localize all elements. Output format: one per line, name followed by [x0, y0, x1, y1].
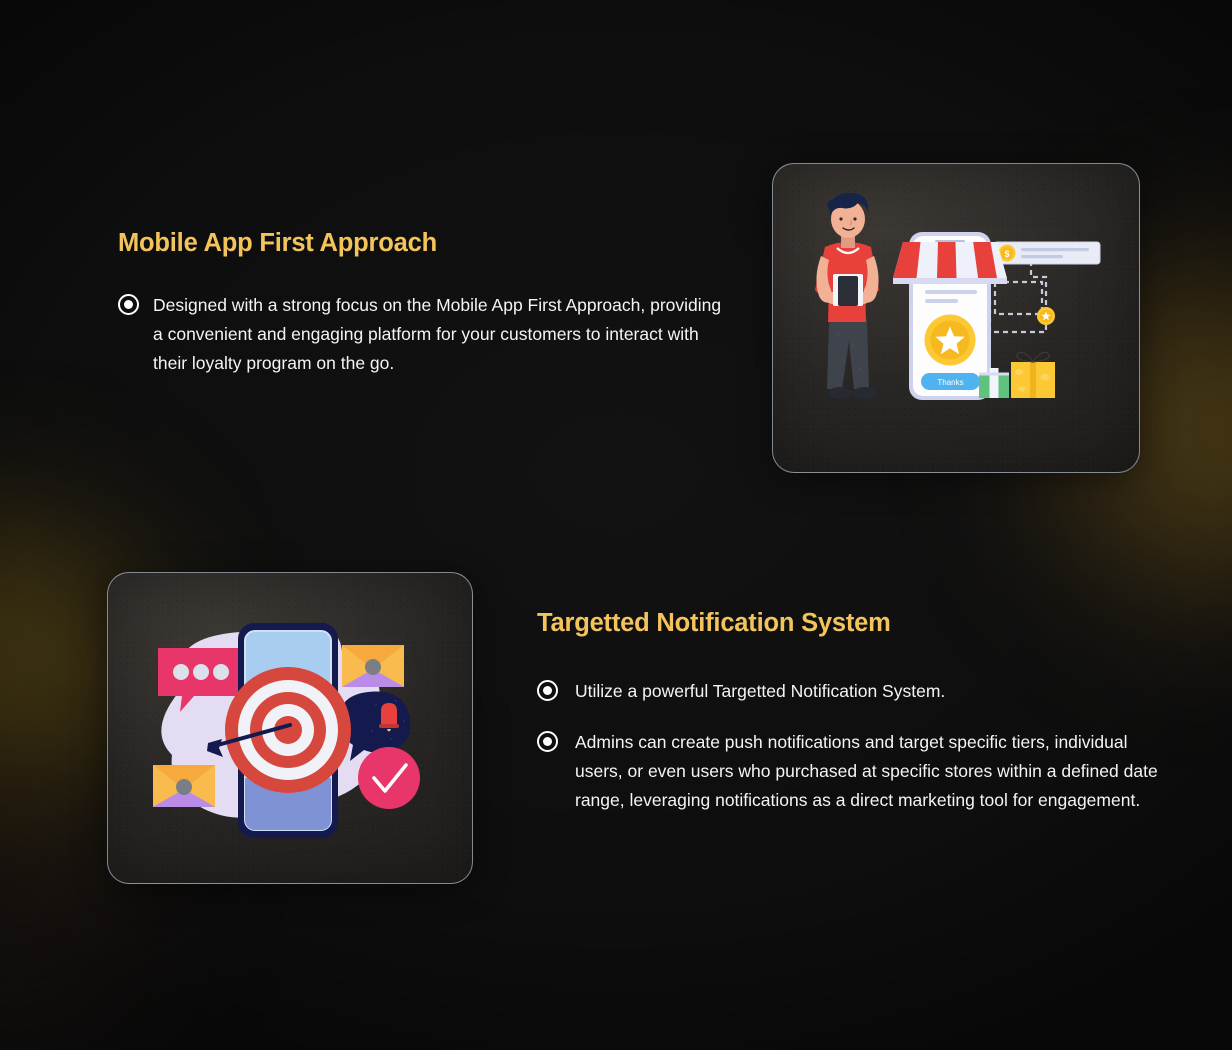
section-notification-text: Targetted Notification System Utilize a …: [537, 608, 1177, 815]
list-item: Admins can create push notifications and…: [537, 728, 1177, 815]
list-item: Utilize a powerful Targetted Notificatio…: [537, 677, 1177, 706]
bullet-text: Designed with a strong focus on the Mobi…: [153, 291, 728, 378]
mobile-store-loyalty-illustration: $: [773, 164, 1140, 473]
radio-bullet-icon: [537, 731, 558, 752]
list-item: Designed with a strong focus on the Mobi…: [118, 291, 728, 378]
radio-bullet-icon: [537, 680, 558, 701]
illustration-card-mobile-app: $: [772, 163, 1140, 473]
person-holding-tablet: [815, 193, 879, 399]
bullet-list-notification: Utilize a powerful Targetted Notificatio…: [537, 677, 1177, 815]
page-content: Mobile App First Approach Designed with …: [0, 0, 1232, 1050]
thanks-button: Thanks: [921, 373, 980, 390]
dartboard: [225, 667, 351, 793]
svg-text:$: $: [1004, 249, 1009, 259]
target-notification-illustration: [108, 573, 473, 884]
star-coin-large: [925, 315, 976, 366]
awning-stripes: [893, 242, 997, 278]
star-coin-small: [1037, 307, 1055, 325]
section-title-notification: Targetted Notification System: [537, 608, 1177, 639]
check-circle-icon: [358, 747, 420, 809]
bullet-text: Utilize a powerful Targetted Notificatio…: [575, 677, 945, 706]
section-mobile-app-text: Mobile App First Approach Designed with …: [118, 228, 728, 378]
dollar-notification-card: $: [994, 242, 1100, 264]
bullet-text: Admins can create push notifications and…: [575, 728, 1177, 815]
envelope-bottom-left: [153, 765, 215, 807]
bullet-list-mobile-app: Designed with a strong focus on the Mobi…: [118, 291, 728, 378]
envelope-top-right: [342, 645, 404, 687]
svg-text:Thanks: Thanks: [937, 378, 963, 387]
radio-bullet-icon: [118, 294, 139, 315]
section-title-mobile-app: Mobile App First Approach: [118, 228, 728, 259]
illustration-card-notification: [107, 572, 473, 884]
